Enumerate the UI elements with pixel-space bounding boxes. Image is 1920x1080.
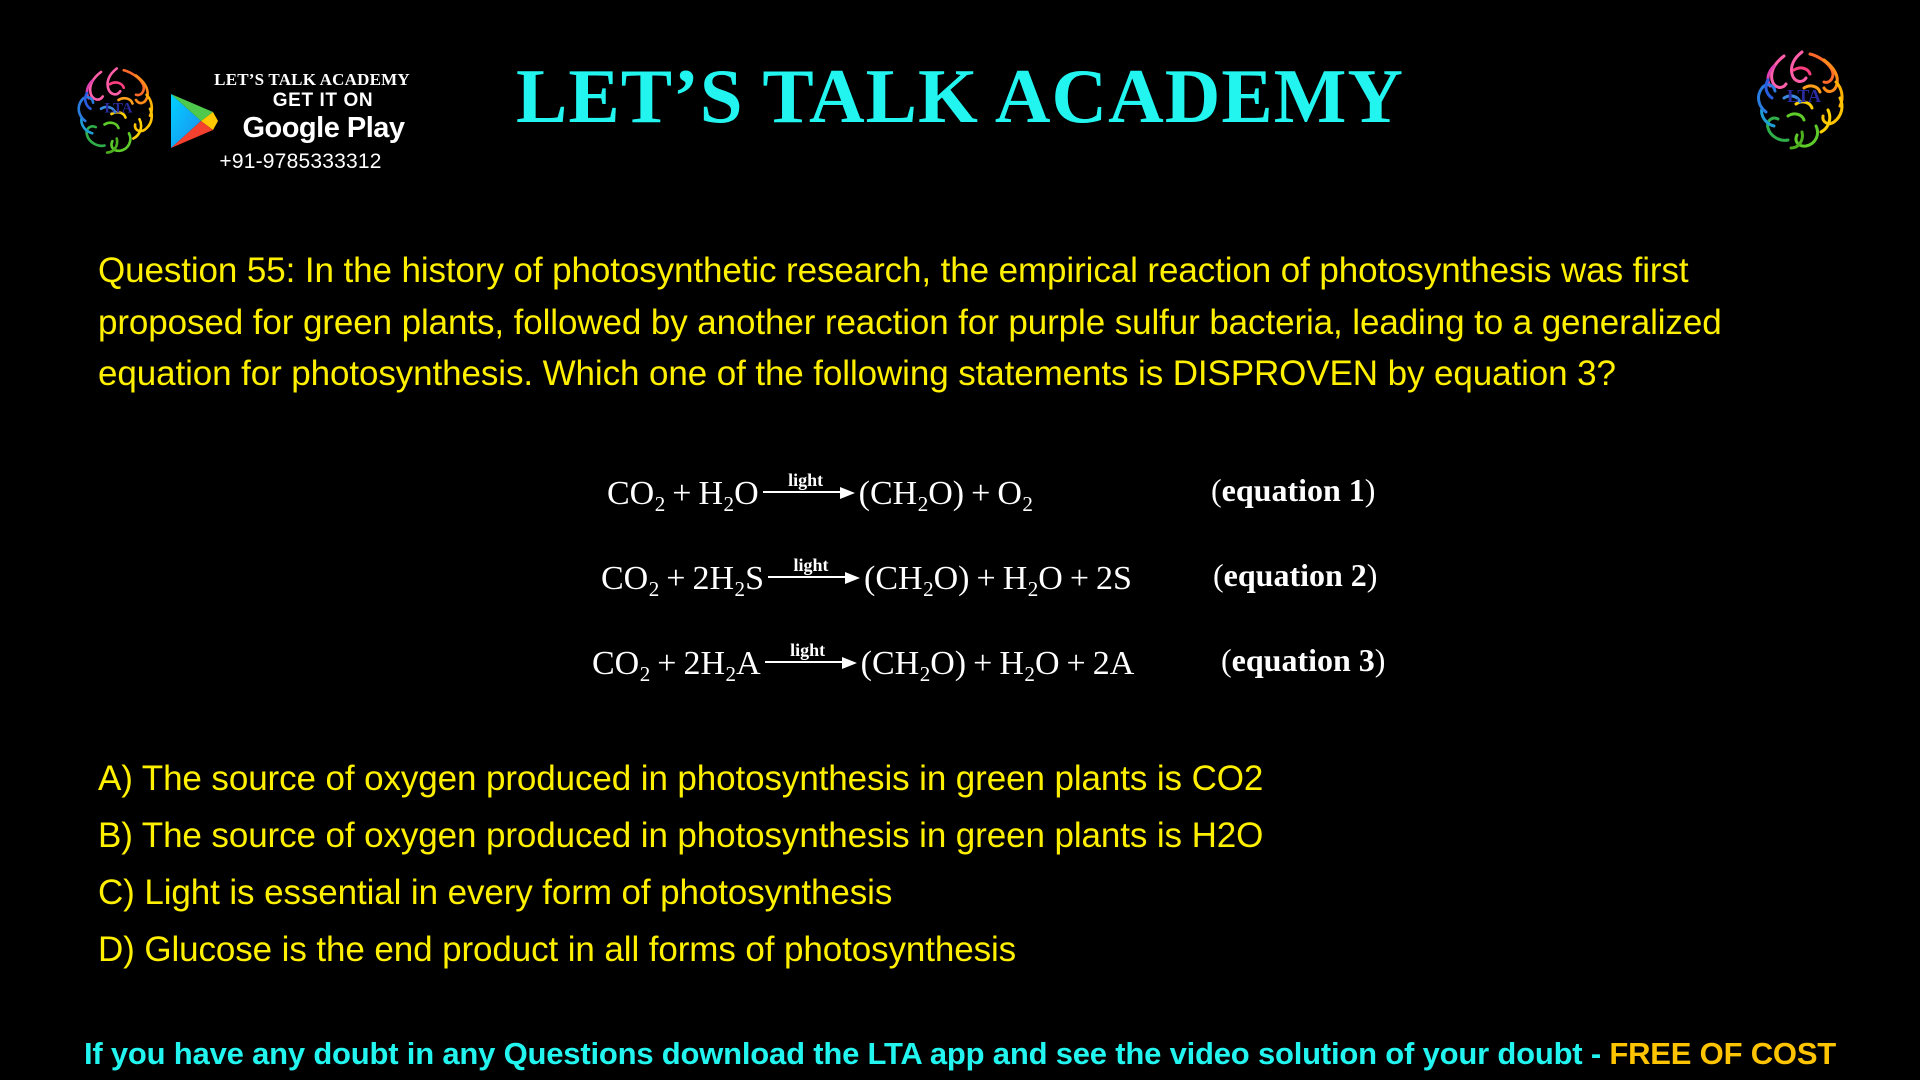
equation-row-2: CO2+2H2S light (CH2O)+H2O+2S (equation 2… — [0, 555, 1920, 640]
option-d[interactable]: D) Glucose is the end product in all for… — [98, 921, 1798, 978]
arrow-label: light — [763, 471, 849, 489]
equation-3-label: (equation 3) — [1221, 642, 1385, 679]
equations-block: CO2+H2O light (CH2O)+O2 (equation 1) CO2… — [0, 470, 1920, 725]
answer-options: A) The source of oxygen produced in phot… — [98, 750, 1798, 978]
contact-phone: +91-9785333312 — [168, 150, 433, 174]
equation-row-3: CO2+2H2A light (CH2O)+H2O+2A (equation 3… — [0, 640, 1920, 725]
equation-1-label: (equation 1) — [1211, 472, 1375, 509]
footer-highlight-text: FREE OF COST — [1609, 1036, 1836, 1071]
reaction-arrow-icon: light — [768, 555, 860, 589]
equation-2-label: (equation 2) — [1213, 557, 1377, 594]
right-brand-logo: LTA — [1744, 40, 1864, 160]
option-c[interactable]: C) Light is essential in every form of p… — [98, 864, 1798, 921]
footer-banner: If you have any doubt in any Questions d… — [0, 1036, 1920, 1072]
equation-3-body: CO2+2H2A light (CH2O)+H2O+2A — [592, 640, 1134, 683]
reaction-arrow-icon: light — [763, 470, 855, 504]
footer-main-text: If you have any doubt in any Questions d… — [84, 1036, 1609, 1071]
right-logo-caption: LTA — [1787, 86, 1821, 106]
equation-1-body: CO2+H2O light (CH2O)+O2 — [607, 470, 1033, 513]
arrow-label: light — [768, 556, 854, 574]
page-title: LET’S TALK ACADEMY — [0, 58, 1920, 135]
equation-row-1: CO2+H2O light (CH2O)+O2 (equation 1) — [0, 470, 1920, 555]
page-header: LTA LET’S TALK ACADEMY GET IT ON Google … — [0, 0, 1920, 185]
question-text: Question 55: In the history of photosynt… — [98, 245, 1788, 400]
reaction-arrow-icon: light — [765, 640, 857, 674]
equation-2-body: CO2+2H2S light (CH2O)+H2O+2S — [601, 555, 1132, 598]
protein-ribbon-icon: LTA — [1744, 40, 1864, 160]
option-a[interactable]: A) The source of oxygen produced in phot… — [98, 750, 1798, 807]
option-b[interactable]: B) The source of oxygen produced in phot… — [98, 807, 1798, 864]
arrow-label: light — [765, 641, 851, 659]
